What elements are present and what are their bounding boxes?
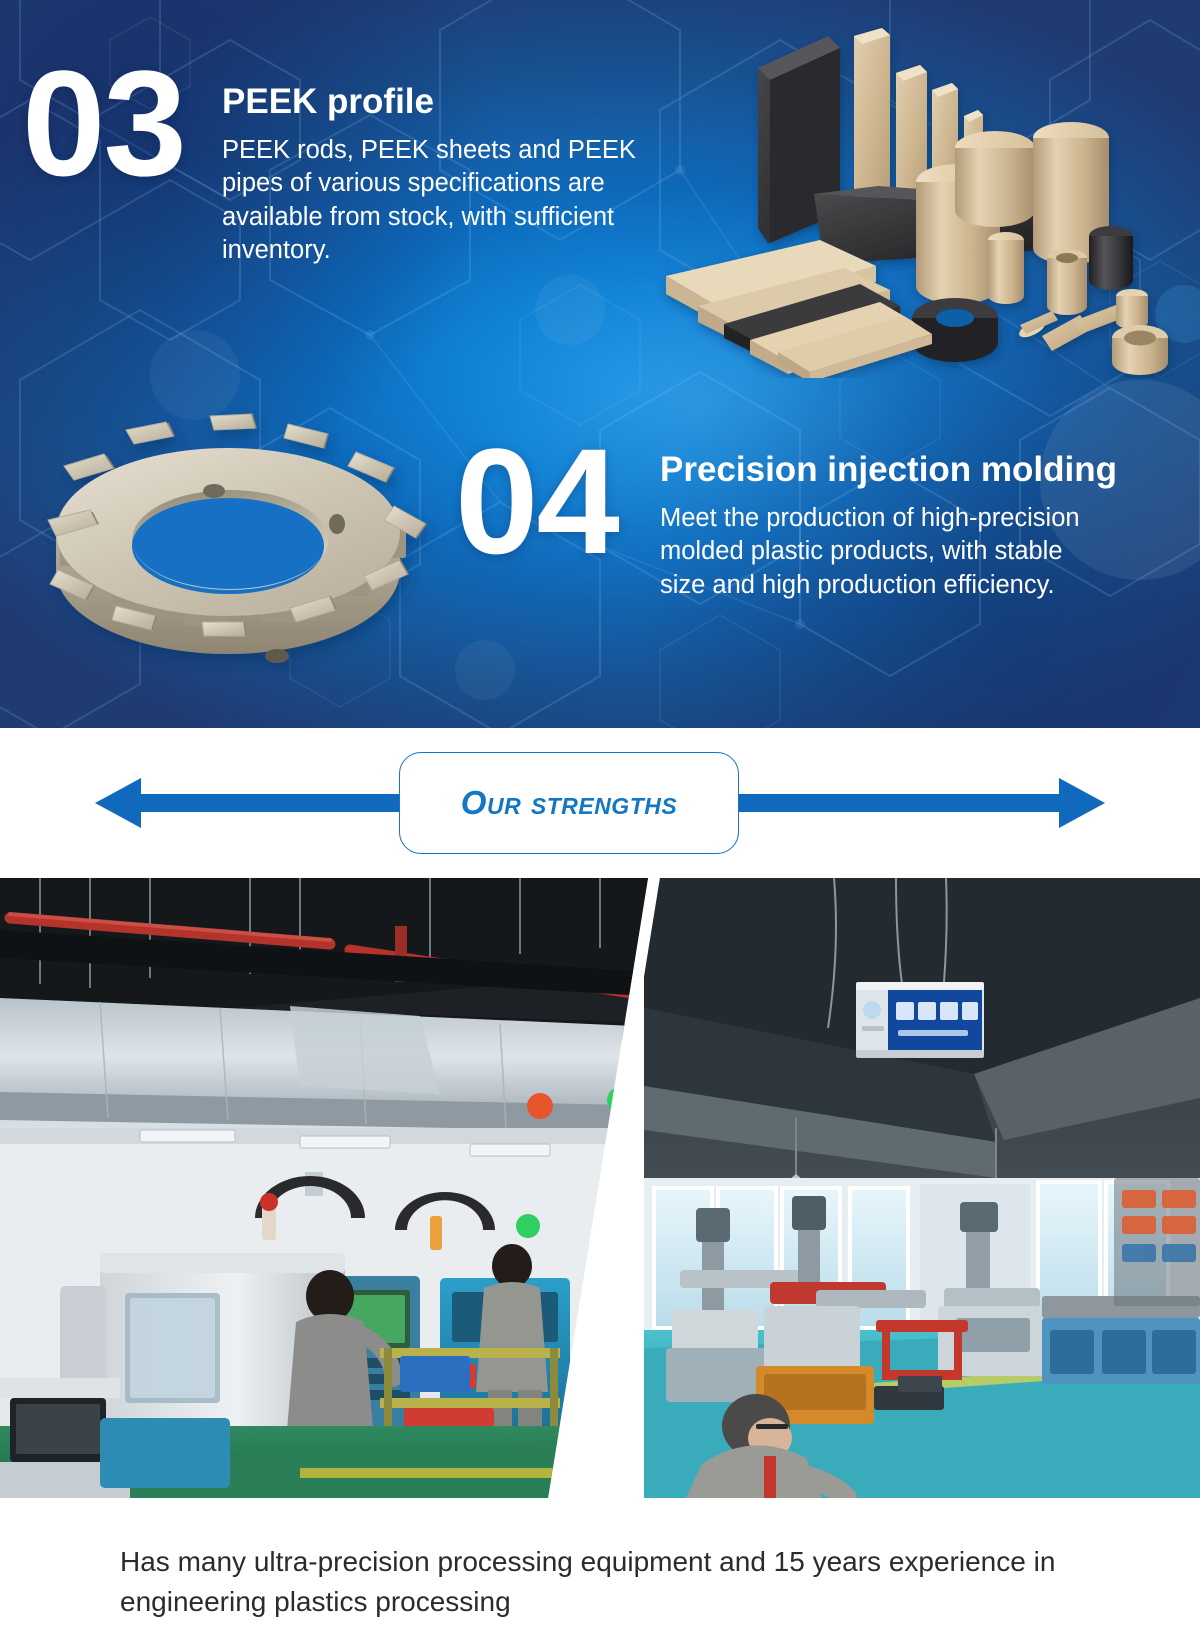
hero-item-04: 04 Precision injection molding Meet the … (455, 432, 1175, 602)
hero-item-03-description: PEEK rods, PEEK sheets and PEEK pipes of… (222, 134, 652, 268)
strengths-label: Our strengths (461, 784, 677, 822)
workshop-photo-cnc (0, 878, 680, 1498)
hero-item-04-description: Meet the production of high-precision mo… (660, 502, 1090, 602)
hero-item-03-number: 03 (22, 54, 222, 192)
hero-item-04-number: 04 (455, 432, 660, 570)
hero-item-04-text: Precision injection molding Meet the pro… (660, 432, 1117, 602)
hero-item-03-title: PEEK profile (222, 82, 652, 122)
hero-item-03: 03 PEEK profile PEEK rods, PEEK sheets a… (22, 68, 662, 268)
hero-item-03-text: PEEK profile PEEK rods, PEEK sheets and … (222, 68, 652, 268)
hero-section: 03 PEEK profile PEEK rods, PEEK sheets a… (0, 0, 1200, 728)
decor-circle-3 (535, 275, 605, 345)
decor-circle-4 (455, 640, 515, 700)
workshop-photo-mold (644, 878, 1200, 1498)
peek-profiles-photo (628, 18, 1188, 378)
peek-gear-ring-photo (28, 388, 438, 673)
workshop-gallery (0, 878, 1200, 1498)
hero-item-04-title: Precision injection molding (660, 450, 1117, 490)
gallery-caption: Has many ultra-precision processing equi… (0, 1528, 1200, 1622)
strengths-label-box: Our strengths (399, 752, 739, 854)
